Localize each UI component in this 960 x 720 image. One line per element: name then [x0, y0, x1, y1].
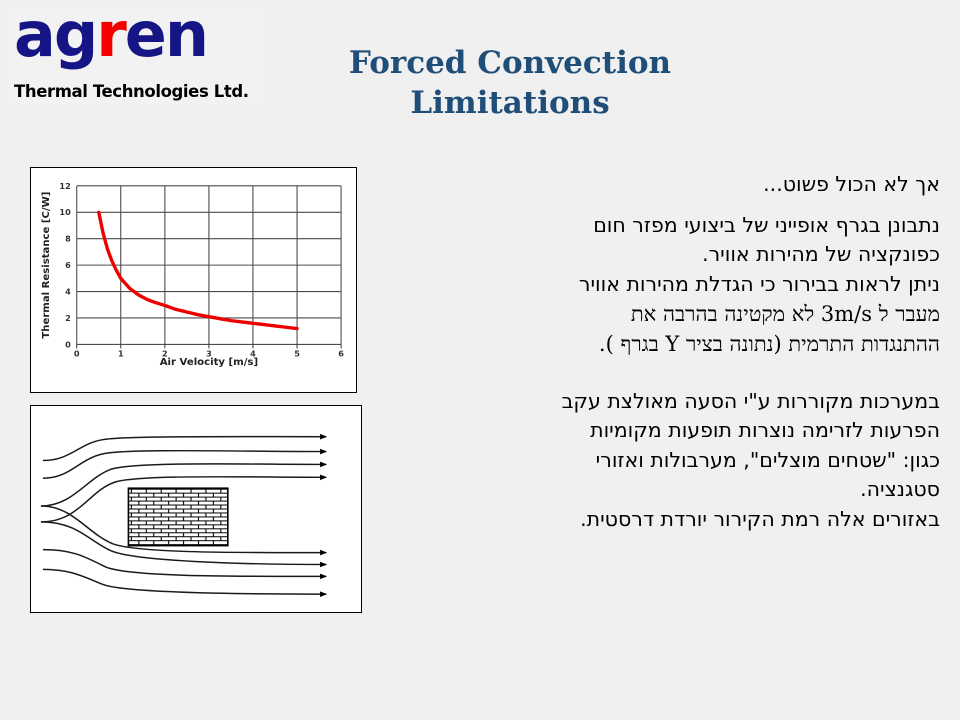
logo-tagline: Thermal Technologies Ltd. [14, 82, 249, 101]
text-line: כגון: "שטחים מוצלים", מערבולות ואזורי [382, 446, 940, 476]
chart-x-tick-label: 6 [338, 348, 344, 358]
chart-y-tick-label: 10 [59, 207, 71, 217]
body-text-column: אך לא הכול פשוט... נתבונן בגרף אופייני ש… [382, 170, 940, 534]
chart-y-tick-label: 4 [65, 287, 71, 297]
paragraph-1: אך לא הכול פשוט... [382, 170, 940, 200]
text-line: במערכות מקוררות ע"י הסעה מאולצת עקב [382, 387, 940, 417]
agren-logo: agren Thermal Technologies Ltd. [8, 8, 266, 106]
chart-y-axis-title: Thermal Resistance [C/W] [41, 192, 52, 339]
logo-word-red-letter: r [96, 0, 125, 71]
forced-convection-flow-diagram [30, 405, 362, 613]
text-line: סטגנציה. [382, 475, 940, 505]
chart-y-tick-label: 0 [65, 339, 71, 349]
chart-y-tick-label: 12 [59, 181, 70, 191]
chart-x-tick-label: 1 [118, 348, 124, 358]
text-line: אך לא הכול פשוט... [382, 170, 940, 200]
logo-word-part2: en [125, 0, 207, 71]
thermal-resistance-chart: 024681012 0123456 Air Velocity [m/s] The… [30, 167, 357, 393]
logo-wordmark: agren [14, 4, 207, 66]
paragraph-2: נתבונן בגרף אופייני של ביצועי מפזר חוםכפ… [382, 211, 940, 360]
text-line: נתבונן בגרף אופייני של ביצועי מפזר חום [382, 211, 940, 241]
heat-source-block [128, 488, 227, 545]
logo-word-part1: ag [14, 0, 96, 71]
text-line: ניתן לראות בבירור כי הגדלת מהירות אוויר [382, 270, 940, 300]
chart-x-tick-label: 0 [74, 348, 80, 358]
text-line: מעבר ל 3m/s לא מקטינה בהרבה את [382, 299, 940, 329]
text-line: הפרעות לזרימה נוצרות תופעות מקומיות [382, 416, 940, 446]
chart-x-tick-label: 5 [294, 348, 300, 358]
slide-canvas: agren Thermal Technologies Ltd. Forced C… [0, 0, 960, 720]
chart-y-tick-label: 8 [65, 234, 71, 244]
paragraph-3: במערכות מקוררות ע"י הסעה מאולצת עקבהפרעו… [382, 387, 940, 535]
flow-diagram-svg [31, 406, 361, 612]
chart-x-axis-title: Air Velocity [m/s] [160, 357, 258, 368]
text-line: ההתנגדות התרמית (נתונה בציר Y בגרף ). [382, 329, 940, 359]
slide-title: Forced Convection Limitations [300, 44, 720, 123]
chart-svg: 024681012 0123456 Air Velocity [m/s] The… [31, 168, 356, 392]
chart-y-tick-label: 6 [65, 260, 71, 270]
text-line: באזורים אלה רמת הקירור יורדת דרסטית. [382, 505, 940, 535]
chart-y-tick-label: 2 [65, 313, 71, 323]
text-line: כפונקציה של מהירות אוויר. [382, 240, 940, 270]
